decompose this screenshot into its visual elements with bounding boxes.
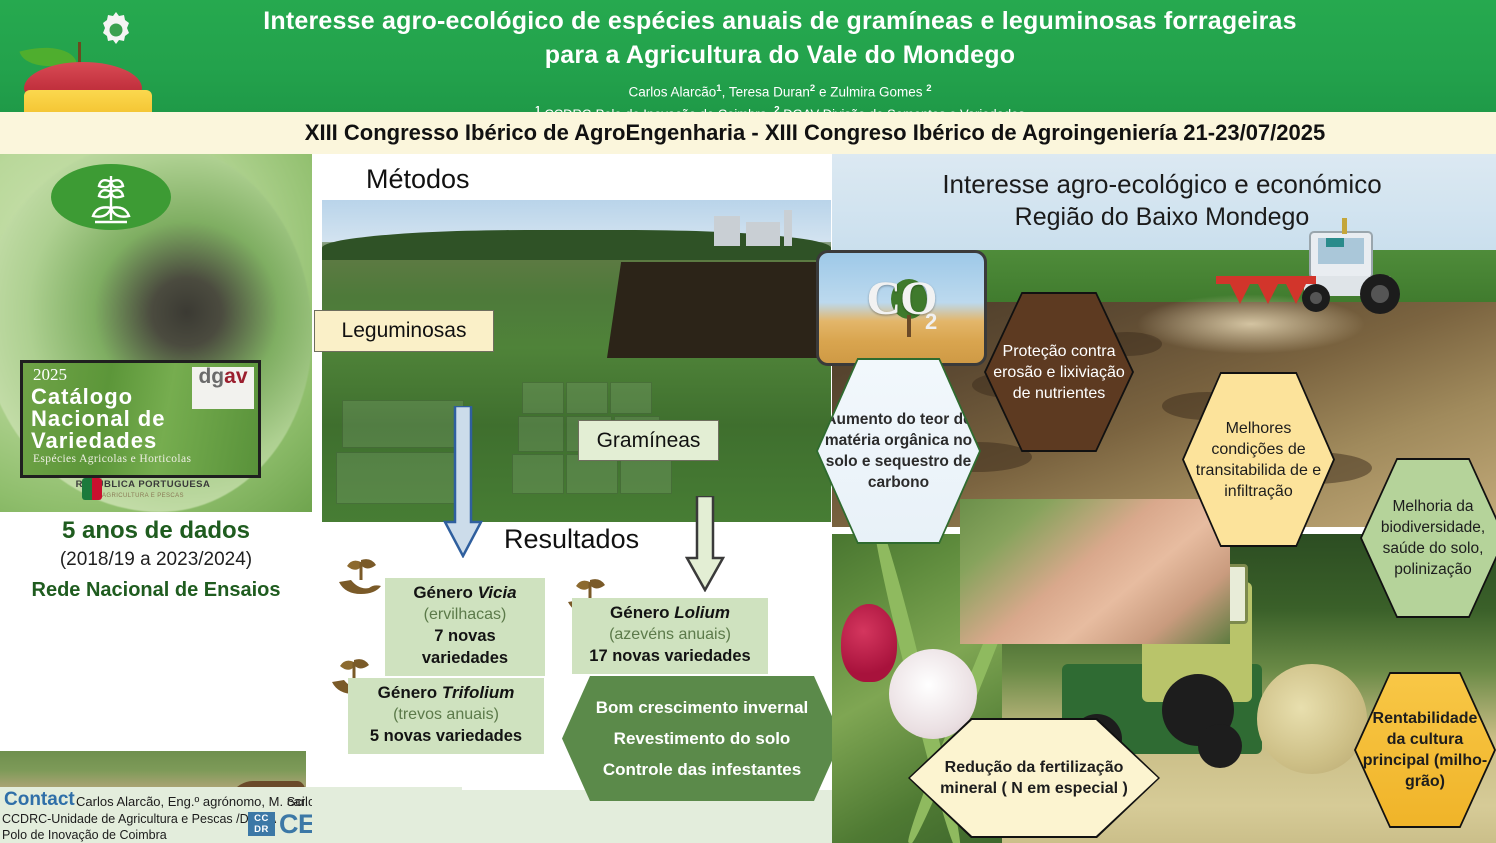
baler-wheel [1198,724,1242,768]
aerial-plot [512,454,564,494]
seedling-photo: 2025 Catálogo Nacional de Variedades Esp… [0,154,312,512]
genus-prefix: Género [610,603,674,622]
red-clover-flower [841,604,897,682]
benefit-line-3: Controle das infestantes [603,760,801,780]
hexagon-text: Aumento do teor de matéria orgânica no s… [818,409,979,493]
republica-portuguesa-logo: REPÚBLICA PORTUGUESA AGRICULTURA E PESCA… [68,480,218,510]
aerial-trial-field-photo [322,200,831,522]
benefit-line-1: Bom crescimento invernal [596,698,809,718]
poster-title-line1: Interesse agro-ecológico de espécies anu… [180,4,1380,38]
years-range: (2018/19 a 2023/2024) [0,546,312,573]
ccdr-badge-top: CC [254,813,269,824]
result-common-name: (ervilhacas) [395,604,535,625]
catalog-subtitle: Espécies Agricolas e Horticolas [33,453,191,465]
benefits-chevron: Bom crescimento invernal Revestimento do… [562,676,842,801]
hexagon-text: Melhoria da biodiversidade, saúde do sol… [1362,496,1496,580]
result-common-name: (trevos anuais) [358,704,534,725]
hay-bale [1257,664,1367,774]
genus-name: Lolium [674,603,730,622]
aerial-plot [566,382,608,414]
left-sidebar: 2025 Catálogo Nacional de Variedades Esp… [0,154,312,843]
result-genus-line: Género Trifolium [358,682,534,704]
result-variety-count: 7 novas variedades [395,625,535,669]
hexagon-fill: Aumento do teor de matéria orgânica no s… [818,360,979,542]
dgav-dg-text: dg [198,367,224,387]
result-box-trifolium: Género Trifolium (trevos anuais) 5 novas… [348,678,544,754]
contact-affiliation-line-2: Polo de Inovação de Coimbra [2,828,167,842]
hexagon-fill: Melhores condições de transitabilida de … [1184,374,1333,545]
wheat-emblem-circle [51,164,171,230]
result-box-lolium: Género Lolium (azevéns anuais) 17 novas … [572,598,768,674]
poster-title-line2: para a Agricultura do Vale do Mondego [180,38,1380,72]
results-section-title: Resultados [504,524,639,555]
methods-section-title: Métodos [366,164,470,195]
right-heading-line-2: Região do Baixo Mondego [862,201,1462,234]
label-gramineas: Gramíneas [578,420,719,461]
dgav-av-text: av [224,367,247,387]
result-variety-count: 5 novas variedades [358,725,534,747]
arrow-down-leguminosas-icon [443,406,483,558]
ccdr-badge-bottom: DR [254,824,269,835]
result-genus-line: Género Lolium [582,602,758,624]
result-common-name: (azevéns anuais) [582,624,758,645]
genus-name: Trifolium [442,683,514,702]
right-panel-heading: Interesse agro-ecológico e económico Reg… [862,168,1462,234]
aerial-plot [610,382,652,414]
aerial-building [746,222,780,246]
author-3-affil-marker: 2 [926,83,931,94]
aerial-plot [518,416,564,452]
co2-subscript: 2 [925,309,937,335]
arrow-down-gramineas-icon [685,496,725,592]
aerial-building [714,216,740,246]
dataset-summary: 5 anos de dados (2018/19 a 2023/2024) Re… [0,516,312,605]
aerial-bare-soil-plot [607,262,831,358]
catalog-line-1: Catálogo [31,385,133,408]
sprout-hand-icon [337,556,385,598]
co2-image-card: CO 2 [816,250,987,366]
catalog-year: 2025 [33,365,67,385]
hexagon-fill: Proteção contra erosão e lixiviação de n… [986,294,1132,450]
hexagon-fill: Rentabilidade da cultura principal (milh… [1356,674,1494,826]
hexagon-fill: Melhoria da biodiversidade, saúde do sol… [1362,460,1496,616]
hexagon-biodiversidade: Melhoria da biodiversidade, saúde do sol… [1360,458,1496,618]
congress-title: XIII Congresso Ibérico de AgroEngenharia… [305,120,1325,146]
congress-band-inner: XIII Congresso Ibérico de AgroEngenharia… [180,112,1450,154]
wheat-sprout-icon [51,164,171,230]
label-leguminosas: Leguminosas [314,310,494,352]
network-label: Rede Nacional de Ensaios [0,575,312,605]
right-heading-line-1: Interesse agro-ecológico e económico [862,168,1462,201]
gear-icon [94,8,138,52]
co2-label: CO [819,271,984,326]
hexagon-text: Proteção contra erosão e lixiviação de n… [986,341,1132,404]
author-2: , Teresa Duran [722,85,810,100]
contact-affiliation-line-1: CCDRC-Unidade de Agricultura e Pescas /D… [2,812,276,826]
hexagon-protecao-erosao: Proteção contra erosão e lixiviação de n… [984,292,1134,452]
hexagon-aumento-materia-organica: Aumento do teor de matéria orgânica no s… [816,358,981,544]
catalog-line-2: Nacional de [31,407,165,430]
result-box-vicia: Género Vicia (ervilhacas) 7 novas varied… [385,578,545,676]
genus-prefix: Género [413,583,477,602]
author-3: e Zulmira Gomes [815,85,926,100]
result-genus-line: Género Vicia [395,582,535,604]
portugal-shield-icon [82,478,102,500]
years-headline: 5 anos de dados [0,516,312,546]
hexagon-text: Melhores condições de transitabilida de … [1184,418,1333,502]
catalog-line-3: Variedades [31,429,157,452]
hexagon-reducao-fertilizacao: Redução da fertilização mineral ( N em e… [908,718,1160,838]
poster-root: Interesse agro-ecológico de espécies anu… [0,0,1496,843]
hexagon-text: Redução da fertilização mineral ( N em e… [910,757,1158,799]
ccdr-badge: CC DR [248,812,275,836]
hexagon-fill: Redução da fertilização mineral ( N em e… [910,720,1158,836]
contact-label: Contact [4,789,75,811]
result-variety-count: 17 novas variedades [582,645,758,667]
poster-title-block: Interesse agro-ecológico de espécies anu… [180,4,1380,123]
dgav-logo: dgav [192,367,254,409]
hexagon-rentabilidade: Rentabilidade da cultura principal (milh… [1354,672,1496,828]
author-1: Carlos Alarcão [628,85,716,100]
hexagon-melhores-condicoes: Melhores condições de transitabilida de … [1182,372,1335,547]
plough-implement-icon [1216,266,1326,314]
aerial-chimney [784,210,792,246]
congress-band: XIII Congresso Ibérico de AgroEngenharia… [0,112,1496,154]
genus-name: Vicia [478,583,517,602]
benefit-line-2: Revestimento do solo [614,729,791,749]
catalog-cover: 2025 Catálogo Nacional de Variedades Esp… [20,360,261,478]
hexagon-text: Rentabilidade da cultura principal (milh… [1356,708,1494,792]
genus-prefix: Género [378,683,442,702]
aerial-plot [522,382,564,414]
contact-name: Carlos Alarcão, Eng.º agrónomo, M. Sci. [76,794,308,809]
